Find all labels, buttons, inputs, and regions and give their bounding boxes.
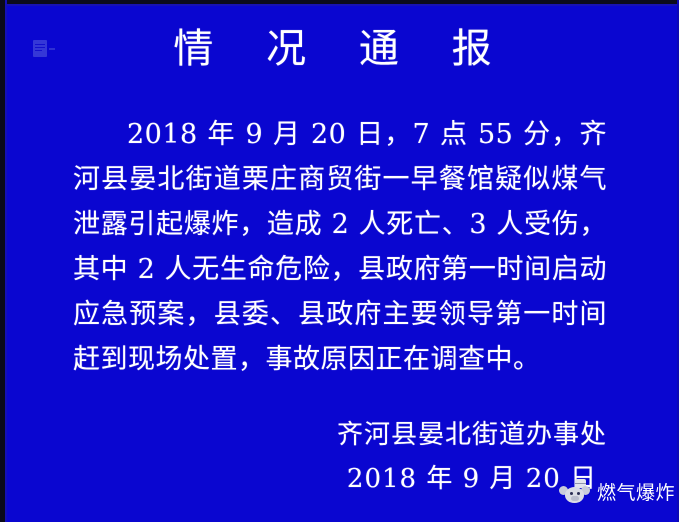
cow-avatar-horn-bar — [575, 483, 586, 484]
notice-document-screenshot: 情 况 通 报 2018 年 9 月 20 日，7 点 55 分，齐河县晏北街道… — [0, 0, 679, 522]
cow-avatar-eye-left — [570, 492, 573, 495]
title-row: 情 况 通 报 — [0, 24, 679, 74]
cow-avatar-eye-right — [577, 492, 580, 495]
page-title: 情 况 通 报 — [167, 24, 511, 74]
wechat-account-name: 燃气爆炸 — [597, 482, 675, 504]
signature-organization: 齐河县晏北街道办事处 — [337, 418, 607, 452]
notice-body-paragraph: 2018 年 9 月 20 日，7 点 55 分，齐河县晏北街道栗庄商贸街一早餐… — [73, 112, 607, 382]
wechat-account-badge[interactable]: 燃气爆炸 — [558, 478, 675, 508]
frame-edge-top-highlight — [0, 4, 679, 6]
cow-avatar-icon — [558, 479, 592, 507]
cow-avatar-snout — [571, 496, 579, 501]
frame-edge-left-highlight — [5, 0, 7, 522]
